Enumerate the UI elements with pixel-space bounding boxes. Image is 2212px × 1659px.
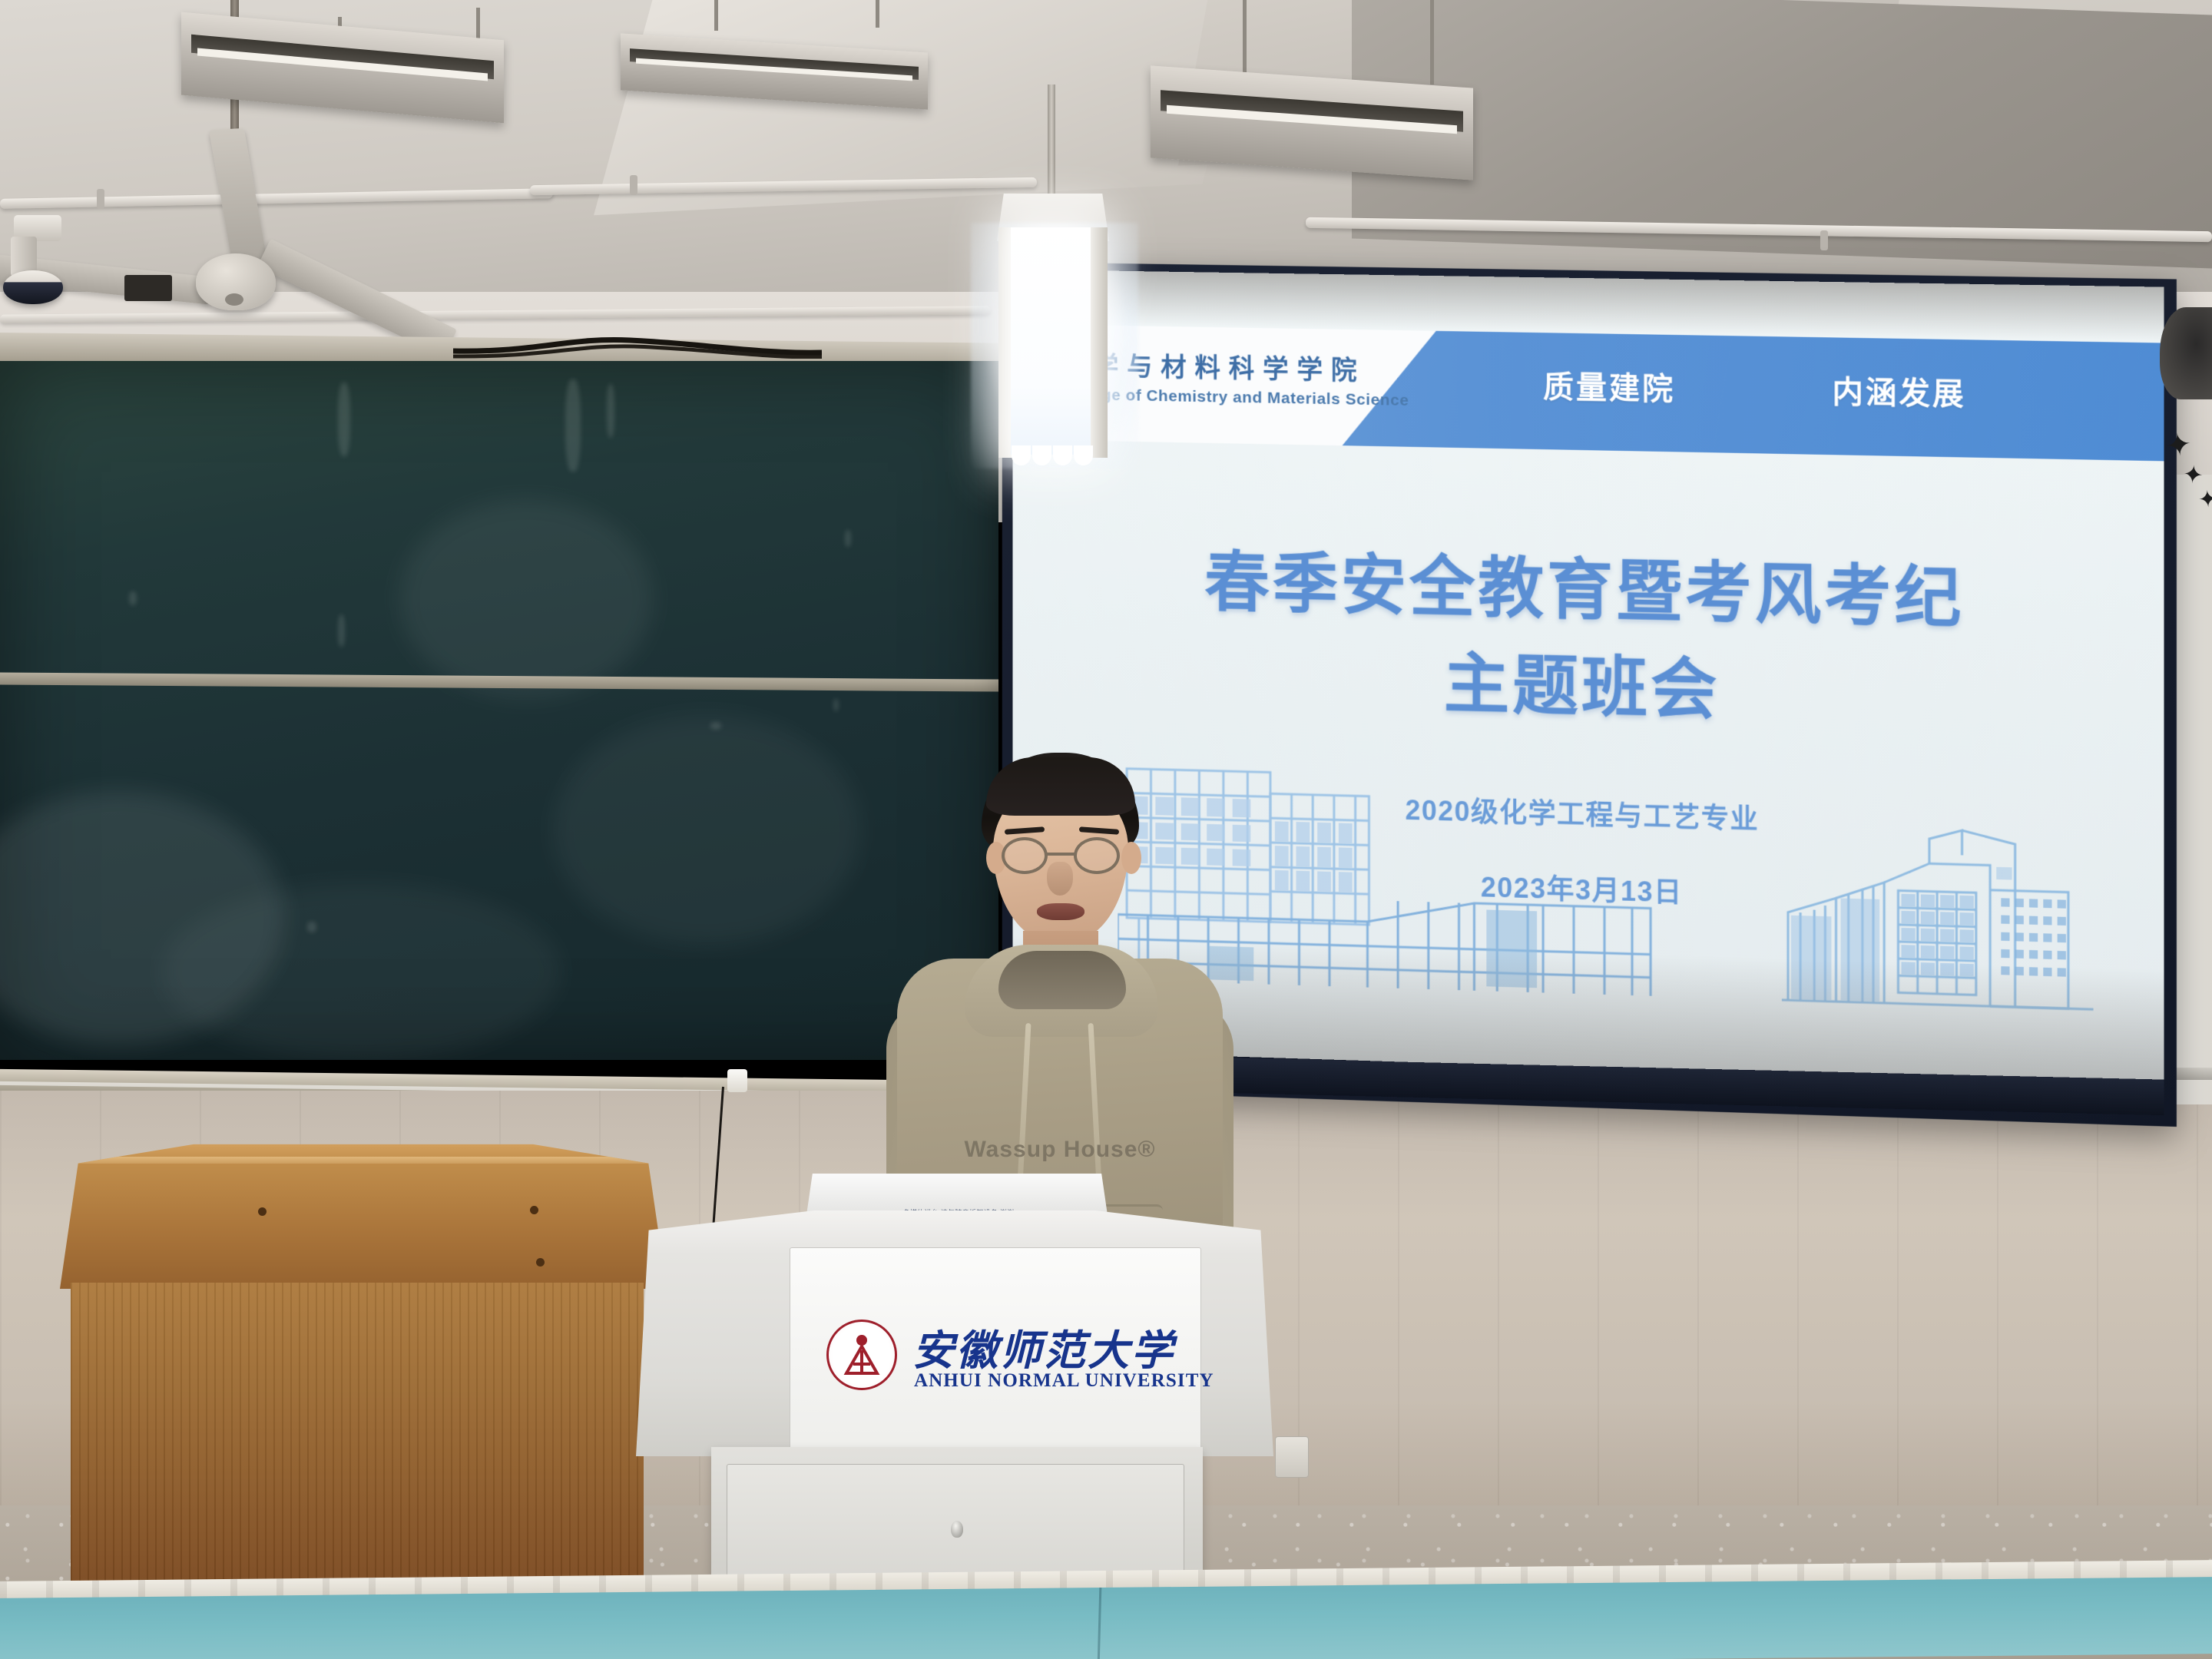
classroom-scene: ✦ ✦ ✦: [0, 0, 2212, 1659]
wall-outlet[interactable]: [1275, 1436, 1309, 1478]
university-crest: [826, 1320, 897, 1390]
chalk-eraser[interactable]: [727, 1069, 747, 1092]
desk-edge-highlight: [74, 1157, 653, 1164]
star-icon: ✦: [2164, 429, 2194, 462]
header-slogan-1: 质量建院: [1543, 362, 1675, 409]
light-support-rod: [876, 0, 879, 28]
fluorescent-tube: [1011, 227, 1094, 455]
student-desk-foreground: [0, 1571, 2212, 1659]
light-support-rod: [1243, 0, 1247, 80]
camera-dome-icon: [3, 270, 63, 304]
lens: [1074, 837, 1120, 874]
light-support-rod: [714, 0, 718, 31]
pipe-clip: [1820, 230, 1828, 250]
wall-dark-patch: [2160, 307, 2212, 399]
header-slogan-2: 内涵发展: [1832, 367, 1965, 414]
ceiling-fan-motor: [196, 253, 276, 310]
hoodie-brand-text: Wassup House®: [891, 1137, 1229, 1163]
star-icon: ✦: [2197, 488, 2212, 512]
pendant-rod: [1048, 84, 1055, 200]
hood-opening: [998, 951, 1126, 1009]
university-name-en: ANHUI NORMAL UNIVERSITY: [914, 1370, 1214, 1392]
pendant-lamp: [991, 84, 1114, 469]
pendant-side-panel: [1091, 227, 1108, 458]
desk-hole: [530, 1206, 538, 1214]
university-name-cn: 安徽师范大学: [912, 1316, 1175, 1377]
pipe-clip: [630, 175, 637, 195]
lens: [1002, 837, 1048, 874]
nose: [1047, 862, 1073, 896]
crest-emblem-icon: [843, 1333, 881, 1376]
chalkboard: [0, 361, 998, 1060]
pendant-diffuser-edge: [1011, 445, 1094, 465]
star-icon: ✦: [2181, 462, 2204, 488]
desk-hole: [258, 1207, 267, 1216]
desk-top-panel: [60, 1143, 667, 1289]
mouth: [1037, 903, 1084, 920]
light-support-rod: [1430, 0, 1434, 84]
hair-fringe: [986, 757, 1135, 816]
pipe-clip: [97, 189, 104, 209]
glasses-bridge: [1047, 853, 1076, 856]
wall-junction-box: [124, 275, 172, 301]
desk-hole: [536, 1258, 545, 1267]
overhead-cable: [453, 336, 822, 353]
slide-header-band: 化学与材料科学学院 College of Chemistry and Mater…: [1012, 324, 2164, 462]
cabinet-lock-icon[interactable]: [951, 1521, 963, 1538]
